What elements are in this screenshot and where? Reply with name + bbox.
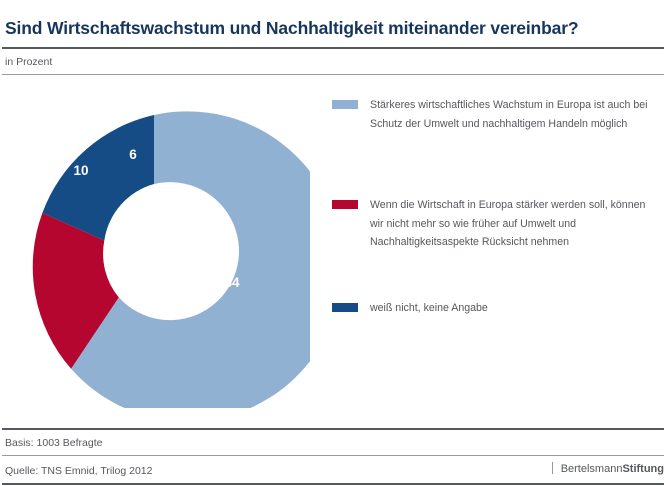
slice-value-label-84: 84 (224, 275, 240, 290)
source-note: Quelle: TNS Emnid, Trilog 2012 (5, 464, 152, 478)
basis-note: Basis: 1003 Befragte (5, 436, 102, 450)
legend-label-dont-know: weiß nicht, keine Angabe (370, 299, 655, 318)
chart-header: Sind Wirtschaftswachstum und Nachhaltigk… (0, 0, 668, 76)
legend-swatch-red-icon (332, 200, 358, 209)
legend-swatch-light-blue-icon (332, 100, 358, 109)
chart-plot-area: 84 10 6 Stärkeres wirtschaftliches Wachs… (0, 76, 668, 428)
legend-label-growth-tradeoff: Wenn die Wirtschaft in Europa stärker we… (370, 196, 655, 252)
legend-swatch-dark-blue-icon (332, 303, 358, 312)
chart-page: Sind Wirtschaftswachstum und Nachhaltigk… (0, 0, 668, 486)
page-title: Sind Wirtschaftswachstum und Nachhaltigk… (5, 18, 655, 38)
slice-value-label-10: 10 (73, 163, 88, 178)
brand-name-bold: Stiftung (622, 463, 664, 475)
chart-footer: Basis: 1003 Befragte Quelle: TNS Emnid, … (0, 428, 668, 486)
bertelsmann-stiftung-logo: BertelsmannStiftung (552, 462, 664, 476)
footer-divider-middle (2, 455, 664, 456)
donut-chart: 84 10 6 (0, 92, 310, 408)
slice-value-label-6: 6 (129, 147, 137, 162)
chart-subtitle: in Prozent (5, 55, 52, 69)
brand-divider-icon (552, 462, 553, 474)
subtitle-divider (2, 74, 664, 75)
donut-chart-svg: 84 10 6 (0, 92, 310, 408)
brand-name-regular: Bertelsmann (561, 463, 623, 475)
footer-divider-top (2, 428, 664, 430)
legend-label-growth-compatible: Stärkeres wirtschaftliches Wachstum in E… (370, 96, 655, 133)
footer-divider-bottom (2, 483, 664, 485)
title-divider (2, 47, 664, 49)
